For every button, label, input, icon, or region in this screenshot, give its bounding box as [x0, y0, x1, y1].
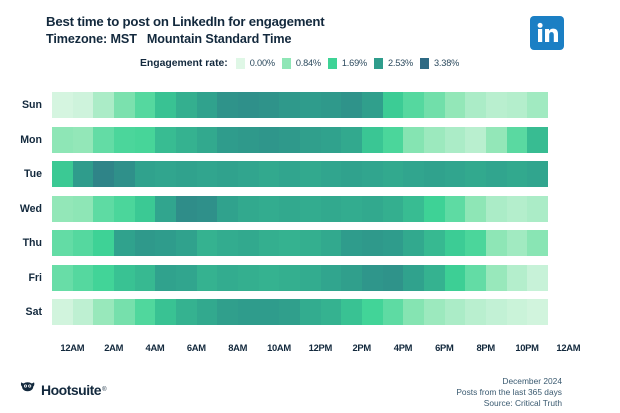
infographic-root: Best time to post on LinkedIn for engage… [0, 0, 620, 413]
day-label-thu: Thu [0, 237, 52, 249]
heatmap-cell[interactable] [135, 92, 156, 118]
x-axis-tick: 6AM [187, 342, 206, 353]
heatmap-cell[interactable] [217, 230, 238, 256]
heatmap-cell[interactable] [155, 196, 176, 222]
legend-swatch [236, 58, 245, 69]
heatmap-cell[interactable] [465, 265, 486, 291]
heatmap-cell[interactable] [73, 161, 94, 187]
heatmap-row-cells [52, 299, 548, 325]
heatmap-cell[interactable] [403, 265, 424, 291]
heatmap-row-cells [52, 230, 548, 256]
heatmap-cell[interactable] [155, 265, 176, 291]
heatmap-cell[interactable] [445, 92, 466, 118]
heatmap-cell[interactable] [135, 230, 156, 256]
heatmap-cell[interactable] [403, 230, 424, 256]
legend-item: 3.38% [420, 58, 459, 69]
heatmap-cell[interactable] [300, 161, 321, 187]
heatmap-cell[interactable] [217, 161, 238, 187]
heatmap-cell[interactable] [383, 230, 404, 256]
heatmap-cell[interactable] [321, 161, 342, 187]
heatmap-cell[interactable] [445, 196, 466, 222]
linkedin-icon [530, 16, 564, 50]
heatmap-cell[interactable] [507, 265, 528, 291]
heatmap-cell[interactable] [73, 299, 94, 325]
x-axis-tick: 2PM [352, 342, 370, 353]
heatmap-cell[interactable] [383, 196, 404, 222]
heatmap-cell[interactable] [279, 92, 300, 118]
heatmap-cell[interactable] [486, 265, 507, 291]
heatmap-cell[interactable] [197, 92, 218, 118]
heatmap-cell[interactable] [155, 299, 176, 325]
heatmap-cell[interactable] [217, 196, 238, 222]
heatmap-row: Sun [0, 92, 620, 118]
heatmap-cell[interactable] [259, 127, 280, 153]
heatmap-row: Sat [0, 299, 620, 325]
x-axis-tick: 12PM [309, 342, 332, 353]
heatmap-cell[interactable] [486, 230, 507, 256]
heatmap-cell[interactable] [176, 265, 197, 291]
heatmap-cell[interactable] [507, 161, 528, 187]
heatmap-cell[interactable] [279, 196, 300, 222]
timezone-abbreviation: Timezone: MST [46, 32, 137, 46]
owl-icon [20, 380, 37, 399]
heatmap-cell[interactable] [403, 161, 424, 187]
heatmap-cell[interactable] [176, 127, 197, 153]
legend-title: Engagement rate: [140, 58, 228, 69]
legend-value: 2.53% [388, 58, 413, 68]
heatmap-cell[interactable] [114, 230, 135, 256]
heatmap-cell[interactable] [238, 127, 259, 153]
footer-note: Source: Critical Truth [456, 398, 562, 409]
heatmap-cell[interactable] [114, 265, 135, 291]
heatmap-row: Mon [0, 127, 620, 153]
hootsuite-wordmark: Hootsuite [41, 382, 101, 398]
heatmap-cell[interactable] [300, 196, 321, 222]
heatmap-cell[interactable] [341, 196, 362, 222]
heatmap-cell[interactable] [155, 161, 176, 187]
heatmap-cell[interactable] [300, 92, 321, 118]
heatmap-row: Tue [0, 161, 620, 187]
heatmap-cell[interactable] [445, 230, 466, 256]
heatmap-cell[interactable] [403, 196, 424, 222]
heatmap-cell[interactable] [527, 161, 548, 187]
heatmap-cell[interactable] [238, 92, 259, 118]
heatmap-cell[interactable] [259, 92, 280, 118]
heatmap-cell[interactable] [176, 196, 197, 222]
heatmap-cell[interactable] [507, 196, 528, 222]
heatmap-cell[interactable] [135, 127, 156, 153]
day-label-sun: Sun [0, 99, 52, 111]
registered-trademark-icon: ® [102, 387, 106, 393]
heatmap-row-cells [52, 161, 548, 187]
heatmap-cell[interactable] [341, 161, 362, 187]
heatmap-cell[interactable] [259, 196, 280, 222]
heatmap-row: Fri [0, 265, 620, 291]
heatmap-cell[interactable] [238, 265, 259, 291]
day-label-tue: Tue [0, 168, 52, 180]
heatmap-cell[interactable] [176, 92, 197, 118]
heatmap-cell[interactable] [52, 299, 73, 325]
heatmap-cell[interactable] [217, 127, 238, 153]
heatmap-cell[interactable] [527, 230, 548, 256]
heatmap-cell[interactable] [52, 196, 73, 222]
heatmap-cell[interactable] [445, 127, 466, 153]
heatmap-cell[interactable] [279, 161, 300, 187]
x-axis-tick: 6PM [435, 342, 453, 353]
heatmap-cell[interactable] [93, 127, 114, 153]
heatmap-cell[interactable] [362, 299, 383, 325]
heatmap-cell[interactable] [321, 196, 342, 222]
heatmap-cell[interactable] [383, 161, 404, 187]
heatmap-cell[interactable] [197, 230, 218, 256]
day-label-mon: Mon [0, 134, 52, 146]
heatmap-cell[interactable] [486, 92, 507, 118]
heatmap-cell[interactable] [300, 265, 321, 291]
heatmap-cell[interactable] [114, 196, 135, 222]
legend-item: 2.53% [374, 58, 413, 69]
heatmap-row-cells [52, 265, 548, 291]
heatmap-cell[interactable] [114, 299, 135, 325]
heatmap-cell[interactable] [238, 299, 259, 325]
legend-value: 0.84% [296, 58, 321, 68]
heatmap-cell[interactable] [341, 92, 362, 118]
heatmap-cell[interactable] [197, 161, 218, 187]
heatmap-cell[interactable] [73, 230, 94, 256]
heatmap-cell[interactable] [527, 299, 548, 325]
legend-swatch [420, 58, 429, 69]
heatmap-cell[interactable] [362, 161, 383, 187]
heatmap-cell[interactable] [486, 127, 507, 153]
heatmap-cell[interactable] [465, 127, 486, 153]
heatmap-row: Thu [0, 230, 620, 256]
heatmap-cell[interactable] [73, 196, 94, 222]
heatmap-cell[interactable] [52, 92, 73, 118]
heatmap-cell[interactable] [73, 92, 94, 118]
heatmap-cell[interactable] [135, 265, 156, 291]
legend-value: 1.69% [342, 58, 367, 68]
heatmap-cell[interactable] [465, 161, 486, 187]
heatmap-cell[interactable] [197, 265, 218, 291]
timezone-line: Timezone: MSTMountain Standard Time [46, 32, 291, 46]
heatmap-cell[interactable] [362, 230, 383, 256]
x-axis-tick: 12AM [556, 342, 580, 353]
heatmap-cell[interactable] [465, 299, 486, 325]
heatmap-cell[interactable] [445, 265, 466, 291]
heatmap-cell[interactable] [93, 92, 114, 118]
heatmap-cell[interactable] [507, 230, 528, 256]
heatmap-cell[interactable] [341, 265, 362, 291]
x-axis-tick: 10PM [515, 342, 538, 353]
heatmap-cell[interactable] [321, 299, 342, 325]
heatmap-cell[interactable] [155, 127, 176, 153]
heatmap-cell[interactable] [403, 127, 424, 153]
heatmap-cell[interactable] [362, 196, 383, 222]
heatmap-cell[interactable] [114, 92, 135, 118]
heatmap-cell[interactable] [114, 161, 135, 187]
footer-note: Posts from the last 365 days [456, 387, 562, 398]
heatmap-cell[interactable] [362, 127, 383, 153]
heatmap-cell[interactable] [259, 161, 280, 187]
legend-value: 3.38% [434, 58, 459, 68]
page-title: Best time to post on LinkedIn for engage… [46, 14, 324, 29]
footer-note: December 2024 [456, 376, 562, 387]
heatmap-cell[interactable] [465, 92, 486, 118]
heatmap-cell[interactable] [176, 230, 197, 256]
heatmap-cell[interactable] [527, 265, 548, 291]
heatmap-cell[interactable] [176, 161, 197, 187]
heatmap-cell[interactable] [135, 299, 156, 325]
heatmap-cell[interactable] [341, 299, 362, 325]
legend-item: 1.69% [328, 58, 367, 69]
heatmap-cell[interactable] [321, 230, 342, 256]
heatmap-cell[interactable] [527, 196, 548, 222]
heatmap-cell[interactable] [424, 161, 445, 187]
heatmap-cell[interactable] [383, 265, 404, 291]
day-label-sat: Sat [0, 306, 52, 318]
heatmap-cell[interactable] [217, 299, 238, 325]
heatmap-cell[interactable] [465, 230, 486, 256]
heatmap-cell[interactable] [93, 230, 114, 256]
heatmap-row-cells [52, 92, 548, 118]
heatmap-cell[interactable] [135, 161, 156, 187]
heatmap-cell[interactable] [383, 299, 404, 325]
heatmap-cell[interactable] [238, 230, 259, 256]
heatmap-cell[interactable] [93, 299, 114, 325]
heatmap-cell[interactable] [279, 265, 300, 291]
heatmap-cell[interactable] [93, 161, 114, 187]
heatmap-cell[interactable] [155, 92, 176, 118]
heatmap-cell[interactable] [403, 299, 424, 325]
heatmap-cell[interactable] [93, 196, 114, 222]
heatmap-cell[interactable] [259, 299, 280, 325]
legend-swatch [328, 58, 337, 69]
legend: Engagement rate: 0.00%0.84%1.69%2.53%3.3… [140, 56, 466, 70]
x-axis: 12AM2AM4AM6AM8AM10AM12PM2PM4PM6PM8PM10PM… [62, 342, 558, 356]
heatmap-cell[interactable] [403, 92, 424, 118]
heatmap-cell[interactable] [445, 299, 466, 325]
hootsuite-logo: Hootsuite ® [20, 380, 106, 399]
heatmap-cell[interactable] [424, 127, 445, 153]
heatmap-cell[interactable] [383, 127, 404, 153]
heatmap-cell[interactable] [217, 92, 238, 118]
x-axis-tick: 12AM [60, 342, 84, 353]
heatmap-cell[interactable] [507, 299, 528, 325]
x-axis-tick: 4PM [394, 342, 412, 353]
heatmap-cell[interactable] [321, 127, 342, 153]
timezone-full-name: Mountain Standard Time [147, 32, 292, 46]
heatmap-cell[interactable] [424, 92, 445, 118]
heatmap-cell[interactable] [73, 127, 94, 153]
heatmap-cell[interactable] [507, 127, 528, 153]
heatmap-cell[interactable] [52, 265, 73, 291]
heatmap-cell[interactable] [238, 196, 259, 222]
heatmap-cell[interactable] [424, 196, 445, 222]
heatmap-cell[interactable] [52, 161, 73, 187]
heatmap-cell[interactable] [527, 92, 548, 118]
heatmap-row-cells [52, 196, 548, 222]
heatmap-cell[interactable] [279, 127, 300, 153]
header: Best time to post on LinkedIn for engage… [0, 0, 620, 90]
heatmap-cell[interactable] [321, 265, 342, 291]
heatmap-cell[interactable] [321, 92, 342, 118]
heatmap-cell[interactable] [486, 196, 507, 222]
heatmap-cell[interactable] [383, 92, 404, 118]
legend-value: 0.00% [250, 58, 275, 68]
heatmap-cell[interactable] [445, 161, 466, 187]
heatmap-cell[interactable] [300, 127, 321, 153]
heatmap-cell[interactable] [486, 161, 507, 187]
heatmap-cell[interactable] [73, 265, 94, 291]
footer-notes: December 2024Posts from the last 365 day… [456, 376, 562, 409]
heatmap-cell[interactable] [114, 127, 135, 153]
heatmap-cell[interactable] [176, 299, 197, 325]
legend-item: 0.84% [282, 58, 321, 69]
heatmap-cell[interactable] [279, 230, 300, 256]
heatmap-cell[interactable] [155, 230, 176, 256]
x-axis-tick: 10AM [267, 342, 291, 353]
heatmap-cell[interactable] [341, 127, 362, 153]
heatmap-cell[interactable] [279, 299, 300, 325]
heatmap-cell[interactable] [527, 127, 548, 153]
heatmap-cell[interactable] [197, 127, 218, 153]
x-axis-tick: 8PM [476, 342, 494, 353]
heatmap-cell[interactable] [424, 299, 445, 325]
heatmap-cell[interactable] [52, 230, 73, 256]
heatmap-cell[interactable] [300, 230, 321, 256]
legend-swatch [282, 58, 291, 69]
day-label-wed: Wed [0, 203, 52, 215]
heatmap-cell[interactable] [135, 196, 156, 222]
heatmap-cell[interactable] [424, 265, 445, 291]
x-axis-tick: 8AM [228, 342, 247, 353]
heatmap-cell[interactable] [197, 196, 218, 222]
heatmap-cell[interactable] [52, 127, 73, 153]
heatmap-cell[interactable] [217, 265, 238, 291]
heatmap-cell[interactable] [197, 299, 218, 325]
heatmap-cell[interactable] [259, 265, 280, 291]
x-axis-tick: 2AM [104, 342, 123, 353]
day-label-fri: Fri [0, 272, 52, 284]
heatmap-cell[interactable] [465, 196, 486, 222]
heatmap-cell[interactable] [238, 161, 259, 187]
heatmap-cell[interactable] [362, 92, 383, 118]
footer: Hootsuite ® December 2024Posts from the … [0, 372, 620, 413]
heatmap-cell[interactable] [424, 230, 445, 256]
heatmap-cell[interactable] [93, 265, 114, 291]
heatmap-cell[interactable] [341, 230, 362, 256]
heatmap-cell[interactable] [486, 299, 507, 325]
legend-swatch [374, 58, 383, 69]
legend-item: 0.00% [236, 58, 275, 69]
heatmap-cell[interactable] [362, 265, 383, 291]
x-axis-tick: 4AM [146, 342, 165, 353]
legend-items: 0.00%0.84%1.69%2.53%3.38% [236, 58, 466, 69]
heatmap-row: Wed [0, 196, 620, 222]
heatmap-cell[interactable] [300, 299, 321, 325]
heatmap-row-cells [52, 127, 548, 153]
heatmap-cell[interactable] [259, 230, 280, 256]
heatmap-cell[interactable] [507, 92, 528, 118]
heatmap: SunMonTueWedThuFriSat [0, 92, 620, 340]
